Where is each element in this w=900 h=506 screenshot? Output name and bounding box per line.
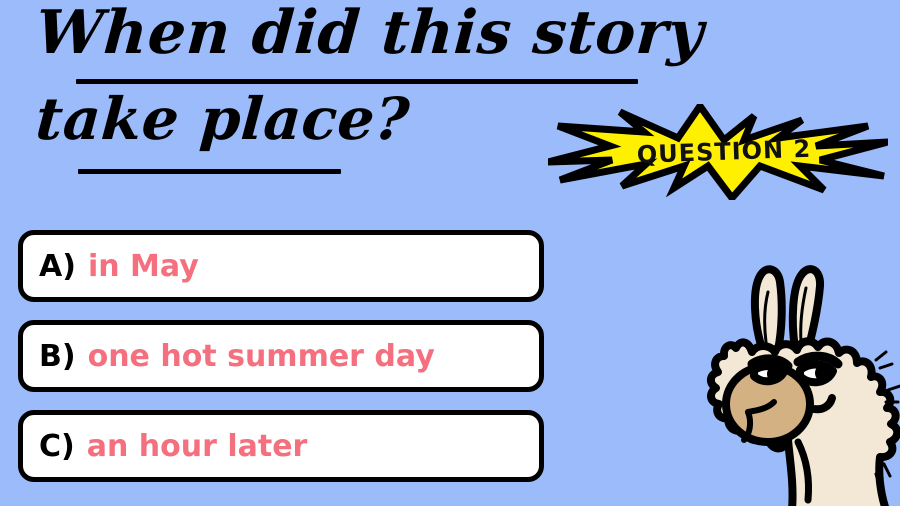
question-number-label: QUESTION 2	[546, 98, 889, 206]
answer-options-list: A) in May B) one hot summer day C) an ho…	[18, 230, 544, 500]
answer-option-a[interactable]: A) in May	[18, 230, 544, 302]
title-underline-second	[78, 169, 341, 174]
question-title: When did this story take place?	[36, 0, 636, 156]
answer-option-c-letter: C)	[39, 429, 75, 464]
question-number-badge: QUESTION 2	[548, 104, 888, 200]
answer-option-c-text: an hour later	[87, 429, 308, 464]
question-title-line-1: When did this story	[33, 0, 638, 70]
answer-option-c[interactable]: C) an hour later	[18, 410, 544, 482]
llama-mascot	[690, 252, 900, 506]
answer-option-a-text: in May	[88, 249, 199, 284]
title-underline-first	[76, 79, 638, 84]
answer-option-b-letter: B)	[39, 339, 76, 374]
quiz-slide: When did this story take place? QUESTION…	[0, 0, 900, 506]
answer-option-b[interactable]: B) one hot summer day	[18, 320, 544, 392]
llama-icon	[690, 252, 900, 506]
answer-option-a-letter: A)	[39, 249, 76, 284]
answer-option-b-text: one hot summer day	[88, 339, 435, 374]
